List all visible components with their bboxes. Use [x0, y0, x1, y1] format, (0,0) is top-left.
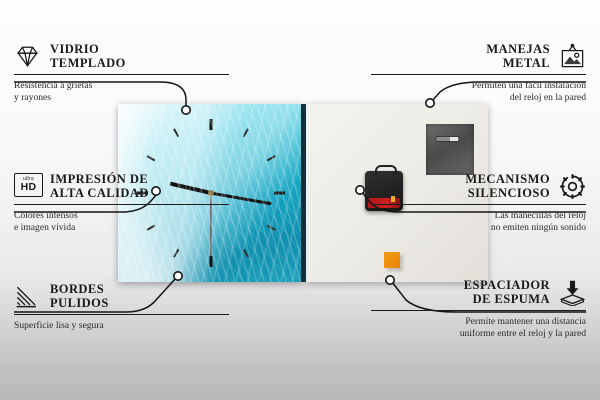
hanger-slot — [435, 136, 460, 142]
feature-title: MANEJASMETAL — [486, 42, 550, 70]
clock-tick — [146, 155, 155, 161]
clock-tick — [209, 119, 212, 130]
clock-tick — [173, 249, 179, 258]
feature-header: ultra HD IMPRESIÓN DEALTA CALIDAD — [14, 172, 229, 200]
foam-spacer — [384, 252, 400, 268]
clock-tick — [266, 155, 275, 161]
feature-header: ESPACIADORDE ESPUMA — [371, 278, 586, 306]
feature-header: BORDESPULIDOS — [14, 282, 229, 310]
feature-title: BORDESPULIDOS — [50, 282, 109, 310]
divider — [14, 314, 229, 315]
feature-description: Resistencia a grietasy rayones — [14, 80, 229, 103]
feature-title: IMPRESIÓN DEALTA CALIDAD — [50, 172, 149, 200]
feature-impresion-alta-calidad: ultra HD IMPRESIÓN DEALTA CALIDAD Colore… — [14, 172, 229, 234]
feature-description: Permiten una fácil instalacióndel reloj … — [371, 80, 586, 103]
feature-vidrio-templado: VIDRIOTEMPLADO Resistencia a grietasy ra… — [14, 42, 229, 104]
feature-description: Colores intensose imagen vívida — [14, 210, 229, 233]
feature-bordes-pulidos: BORDESPULIDOS Superficie lisa y segura — [14, 282, 229, 332]
divider — [371, 310, 586, 311]
feature-description: Permite mantener una distanciauniforme e… — [371, 316, 586, 339]
feature-header: MECANISMOSILENCIOSO — [371, 172, 586, 200]
feature-manejas-metal: MANEJASMETAL Permiten una fácil instalac… — [371, 42, 586, 104]
polished-edge-icon — [14, 283, 41, 310]
ultra-hd-icon: ultra HD — [14, 173, 41, 200]
divider — [14, 74, 229, 75]
clock-tick — [173, 128, 179, 137]
feature-title: VIDRIOTEMPLADO — [50, 42, 126, 70]
picture-frame-hanger-icon — [559, 43, 586, 70]
clock-tick — [274, 192, 285, 195]
clock-tick — [209, 256, 212, 267]
feature-mecanismo-silencioso: MECANISMOSILENCIOSO Las manecillas del r… — [371, 172, 586, 234]
feature-description: Superficie lisa y segura — [14, 320, 229, 332]
arrow-down-layers-icon — [559, 279, 586, 306]
feature-description: Las manecillas del relojno emiten ningún… — [371, 210, 586, 233]
feature-header: MANEJASMETAL — [371, 42, 586, 70]
feature-header: VIDRIOTEMPLADO — [14, 42, 229, 70]
gear-icon — [559, 173, 586, 200]
divider — [371, 74, 586, 75]
feature-title: ESPACIADORDE ESPUMA — [464, 278, 550, 306]
feature-title: MECANISMOSILENCIOSO — [465, 172, 550, 200]
clock-tick — [242, 128, 248, 137]
divider — [371, 204, 586, 205]
divider — [14, 204, 229, 205]
clock-tick — [266, 225, 275, 231]
feature-espaciador-espuma: ESPACIADORDE ESPUMA Permite mantener una… — [371, 278, 586, 340]
metal-hanger-plate — [426, 124, 474, 175]
infographic-canvas: VIDRIOTEMPLADO Resistencia a grietasy ra… — [0, 0, 600, 400]
clock-tick — [242, 249, 248, 258]
diamond-icon — [14, 43, 41, 70]
